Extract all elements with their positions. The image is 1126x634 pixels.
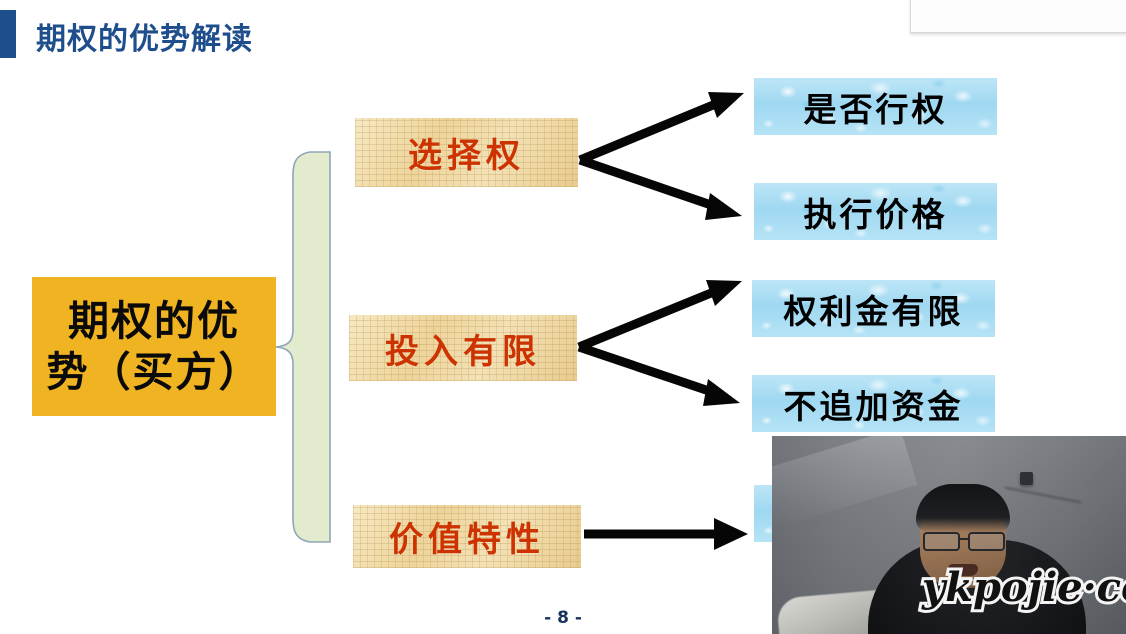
slide-canvas: 期权的优势解读 期权的优 势（买方） [0,0,1126,634]
arrow-branch-1-leaf-1 [579,347,740,406]
branch-node-value-property: 价值特性 [353,505,581,568]
curly-brace [276,152,330,542]
arrow-branch-0-leaf-1 [580,160,742,220]
leaf-node-limited-premium: 权利金有限 [752,280,995,337]
leaf-node-no-additional-funds: 不追加资金 [752,375,995,432]
branch-node-selection-right: 选择权 [355,118,578,187]
glasses-icon [922,532,1006,547]
arrow-branch-2-leaf-0 [584,518,748,550]
person-hair [916,484,1010,532]
root-node-line-1: 期权的优 [68,296,240,346]
wall-mark [1020,472,1033,485]
watermark-text: ykpojie·com [922,564,1126,611]
floating-toolbar-panel[interactable] [910,0,1126,33]
webcam-video-overlay[interactable]: ykpojie·com [772,436,1126,634]
root-node-line-2: 势（买方） [47,347,262,397]
arrow-branch-1-leaf-0 [579,280,742,347]
page-title: 期权的优势解读 [36,14,253,58]
leaf-node-exercise-or-not: 是否行权 [754,78,997,135]
leaf-node-strike-price: 执行价格 [754,183,997,240]
branch-node-limited-investment: 投入有限 [349,315,577,381]
arrow-branch-0-leaf-0 [580,92,744,160]
root-node: 期权的优 势（买方） [32,277,276,416]
title-accent-bar [0,10,16,58]
